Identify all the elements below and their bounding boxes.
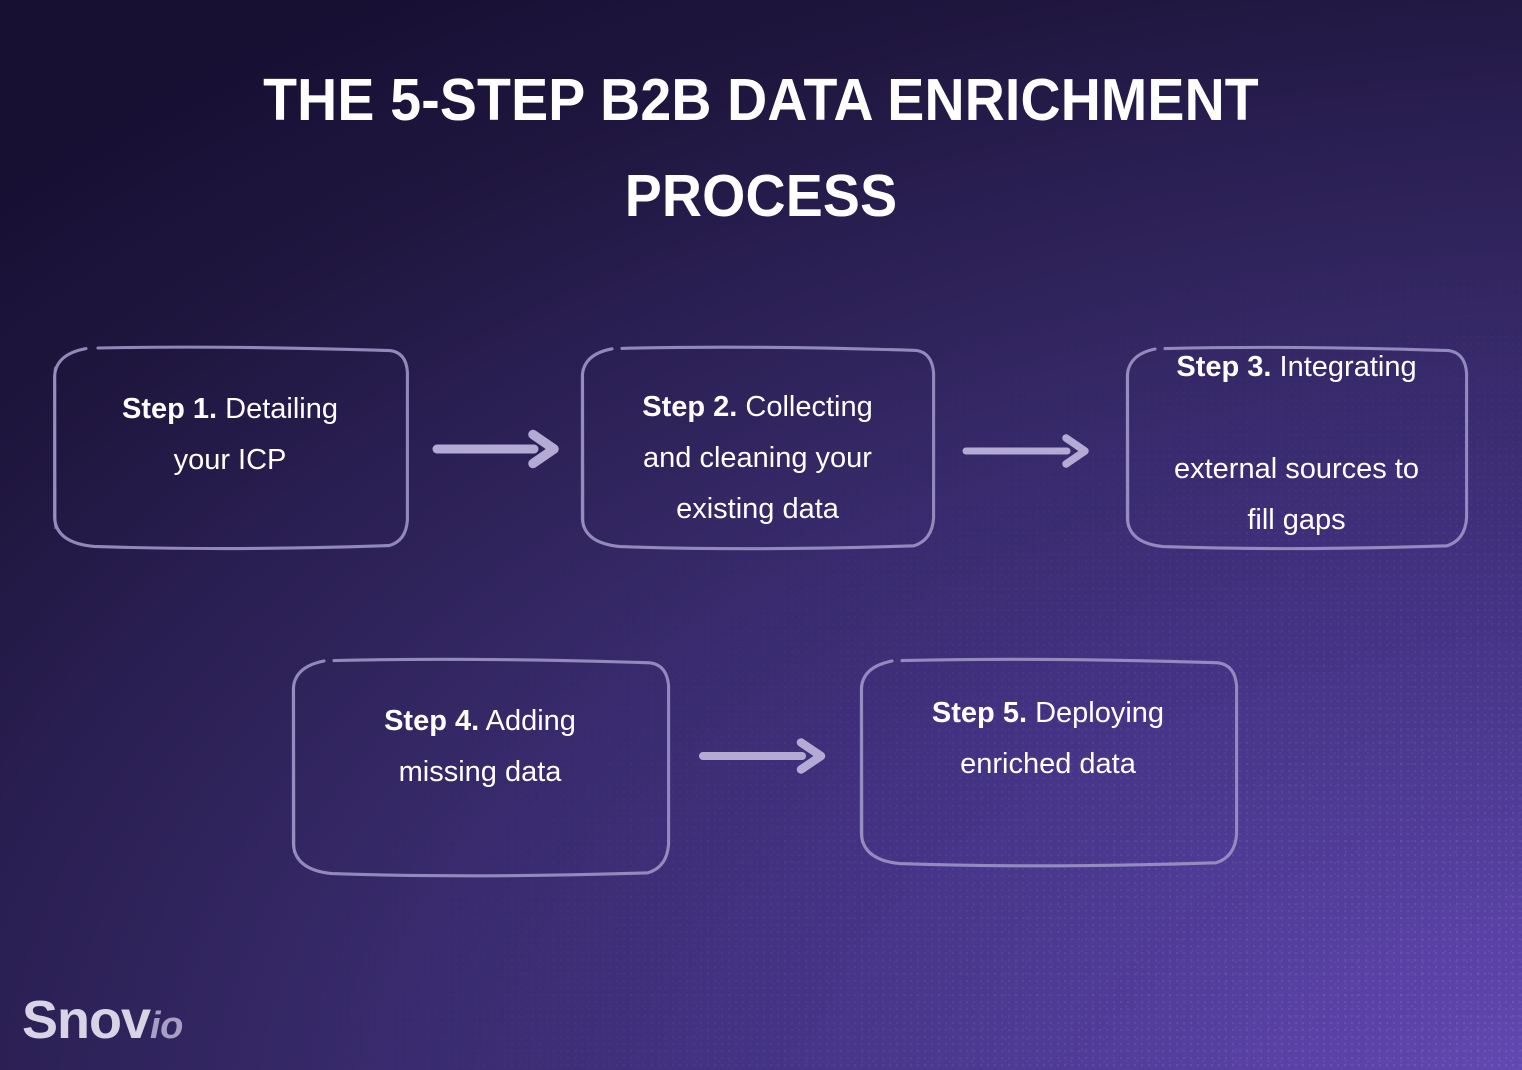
- step-2-number: Step 2.: [642, 391, 737, 423]
- step-4-number: Step 4.: [384, 705, 479, 737]
- step-box-2[interactable]: Step 2. Collecting and cleaning your exi…: [580, 348, 935, 548]
- snovio-logo[interactable]: Snovio: [22, 992, 183, 1054]
- arrow-step2-to-step3: [963, 430, 1093, 472]
- step-box-4-text: Step 4. Adding missing data: [274, 696, 686, 798]
- page-title: THE 5-STEP B2B DATA ENRICHMENT PROCESS: [46, 52, 1477, 244]
- title-line-2: PROCESS: [625, 163, 898, 229]
- step-box-1[interactable]: Step 1. Detailing your ICP: [52, 348, 408, 548]
- step-box-3[interactable]: Step 3. Integrating external sources to …: [1125, 348, 1468, 548]
- step-3-number: Step 3.: [1176, 351, 1271, 383]
- step-box-1-text: Step 1. Detailing your ICP: [36, 384, 424, 486]
- step-box-5[interactable]: Step 5. Deploying enriched data: [858, 660, 1238, 865]
- title-line-1: THE 5-STEP B2B DATA ENRICHMENT: [263, 67, 1259, 133]
- arrow-step1-to-step2: [434, 428, 560, 470]
- logo-name: Snov: [22, 990, 150, 1050]
- arrow-step4-to-step5: [700, 735, 828, 777]
- step-1-number: Step 1.: [122, 393, 217, 425]
- logo-suffix: io: [150, 1005, 183, 1047]
- infographic-canvas: THE 5-STEP B2B DATA ENRICHMENT PROCESS S…: [0, 0, 1522, 1070]
- step-box-5-text: Step 5. Deploying enriched data: [842, 688, 1254, 790]
- step-5-number: Step 5.: [932, 697, 1027, 729]
- step-box-2-text: Step 2. Collecting and cleaning your exi…: [564, 382, 951, 535]
- step-box-3-text: Step 3. Integrating external sources to …: [1099, 342, 1494, 546]
- step-box-4[interactable]: Step 4. Adding missing data: [290, 660, 670, 875]
